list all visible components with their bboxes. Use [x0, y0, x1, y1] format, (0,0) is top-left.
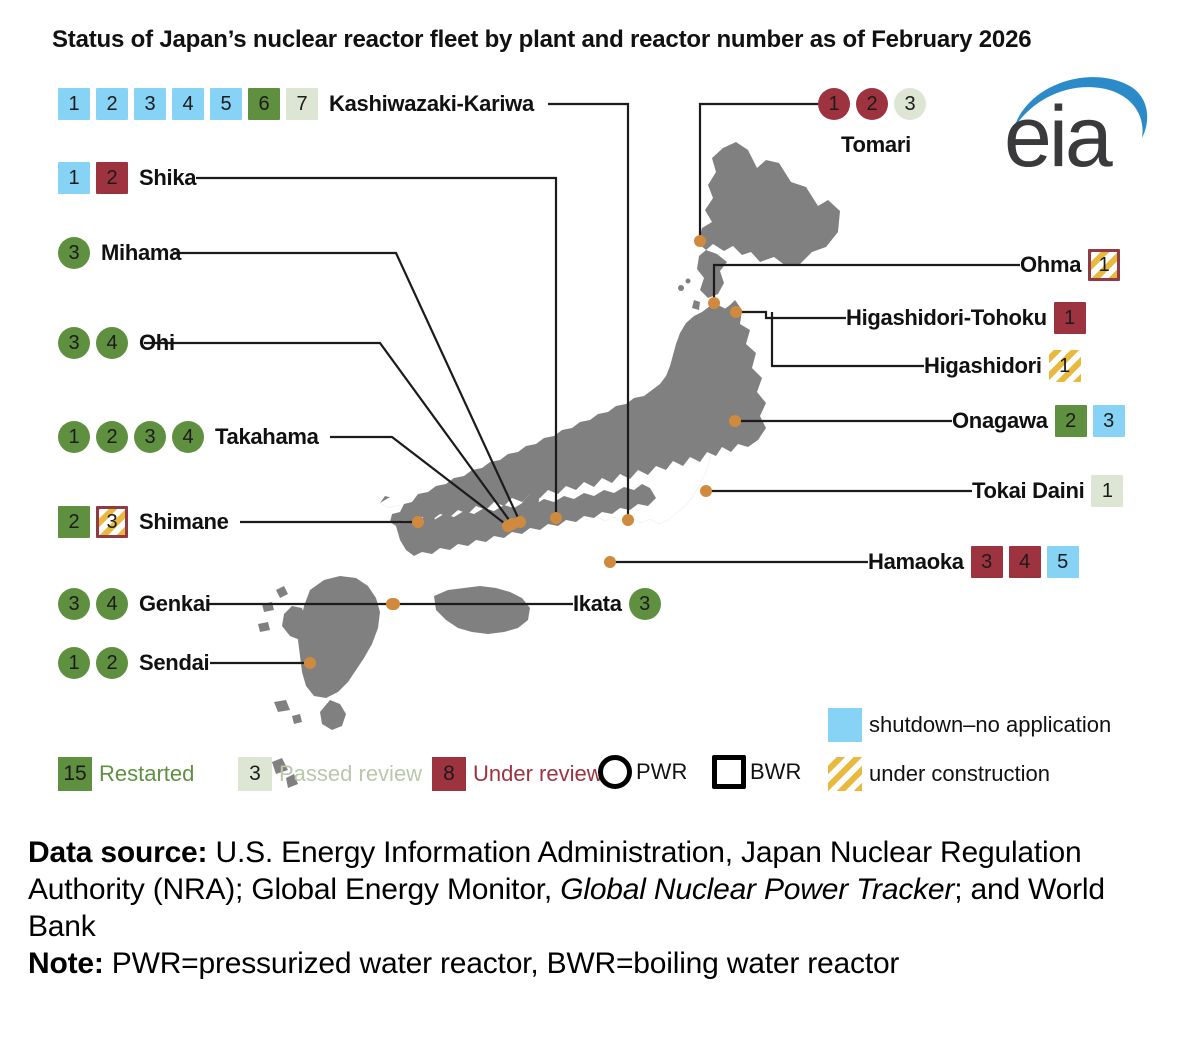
dot-takahama	[502, 520, 514, 532]
legend-label: Under review	[473, 761, 603, 787]
legend-passed-review: 3 Passed review	[238, 757, 422, 791]
reactor-marker[interactable]: 3	[1093, 405, 1125, 437]
map-landmass	[258, 142, 840, 788]
dot-shika	[550, 512, 562, 524]
plant-hamaoka[interactable]: Hamaoka 3 4 5	[868, 546, 1085, 578]
reactor-marker[interactable]: 3	[894, 88, 926, 120]
plant-label: Sendai	[139, 650, 209, 676]
legend-bwr: BWR	[712, 755, 801, 789]
note-text: PWR=pressurized water reactor, BWR=boili…	[104, 947, 900, 980]
reactor-marker[interactable]: 1	[58, 162, 90, 194]
plant-shika[interactable]: 1 2 Shika	[58, 162, 196, 194]
dot-ikata	[388, 598, 400, 610]
reactor-marker[interactable]: 3	[58, 237, 90, 269]
dot-onagawa	[729, 415, 741, 427]
reactor-marker[interactable]: 2	[96, 88, 128, 120]
plant-onagawa[interactable]: Onagawa 2 3	[952, 405, 1131, 437]
reactor-marker[interactable]: 3	[96, 506, 128, 538]
reactor-marker[interactable]: 2	[96, 647, 128, 679]
legend-label: Passed review	[279, 761, 422, 787]
reactor-marker[interactable]: 2	[96, 421, 128, 453]
reactor-marker[interactable]: 7	[286, 88, 318, 120]
leader-kashiwazaki	[548, 104, 628, 520]
dot-mihama	[514, 516, 526, 528]
reactor-marker[interactable]: 4	[96, 588, 128, 620]
reactor-marker[interactable]: 1	[58, 88, 90, 120]
leader-tomari	[700, 104, 818, 241]
dot-ohma	[708, 297, 720, 309]
reactor-marker[interactable]: 4	[96, 327, 128, 359]
dot-kashiwazaki	[622, 514, 634, 526]
reactor-marker[interactable]: 5	[210, 88, 242, 120]
legend-restarted: 15 Restarted	[58, 757, 194, 791]
plant-label: Ohma	[1020, 252, 1081, 278]
reactor-marker[interactable]: 4	[1009, 546, 1041, 578]
footer: Data source: U.S. Energy Information Adm…	[28, 834, 1178, 982]
plant-label: Onagawa	[952, 408, 1048, 434]
plant-ikata[interactable]: Ikata 3	[573, 588, 667, 620]
data-source-label: Data source:	[28, 836, 207, 869]
plant-location-dots	[304, 235, 742, 669]
plant-higashidori[interactable]: Higashidori 1	[924, 350, 1087, 382]
plant-takahama[interactable]: 1 2 3 4 Takahama	[58, 421, 319, 453]
reactor-marker[interactable]: 3	[134, 421, 166, 453]
plant-label: Tokai Daini	[972, 478, 1084, 504]
eia-logo-text: eia	[1004, 89, 1113, 176]
leader-ohma	[714, 265, 1020, 303]
legend-under-review: 8 Under review	[432, 757, 603, 791]
pwr-circle-icon	[598, 755, 632, 789]
plant-label: Mihama	[101, 240, 181, 266]
leader-takahama	[330, 437, 508, 526]
page-title: Status of Japan’s nuclear reactor fleet …	[52, 26, 1031, 54]
plant-label: Hamaoka	[868, 549, 964, 575]
under-construction-swatch-icon	[828, 757, 862, 791]
eia-logo: eia	[1002, 66, 1152, 176]
restarted-swatch-icon: 15	[58, 757, 92, 791]
infographic-root: Status of Japan’s nuclear reactor fleet …	[0, 0, 1200, 1046]
under-review-swatch-icon: 8	[432, 757, 466, 791]
reactor-marker[interactable]: 1	[1091, 475, 1123, 507]
legend: shutdown–no application 15 Restarted 3 P…	[0, 700, 1200, 810]
dot-sendai	[304, 657, 316, 669]
plant-label: Shimane	[139, 509, 229, 535]
plant-label: Higashidori-Tohoku	[846, 305, 1047, 331]
dot-shimane	[412, 516, 424, 528]
plant-tomari[interactable]: 1 2 3	[818, 88, 926, 120]
legend-label: PWR	[636, 759, 687, 785]
plant-mihama[interactable]: 3 Mihama	[58, 237, 181, 269]
bwr-square-icon	[712, 755, 746, 789]
data-source-italic: Global Nuclear Power Tracker	[560, 873, 954, 906]
reactor-marker[interactable]: 3	[58, 588, 90, 620]
reactor-marker[interactable]: 5	[1047, 546, 1079, 578]
leader-lines	[144, 104, 1020, 663]
leader-shika	[196, 178, 556, 518]
plant-sendai[interactable]: 1 2 Sendai	[58, 647, 209, 679]
reactor-marker[interactable]: 2	[58, 506, 90, 538]
legend-pwr: PWR	[598, 755, 687, 789]
reactor-marker[interactable]: 4	[172, 421, 204, 453]
plant-label-tomari: Tomari	[841, 132, 911, 158]
dot-tomari	[694, 235, 706, 247]
dot-ohi	[506, 518, 518, 530]
reactor-marker[interactable]: 3	[134, 88, 166, 120]
passed-review-swatch-icon: 3	[238, 757, 272, 791]
legend-label: shutdown–no application	[869, 712, 1111, 738]
reactor-marker[interactable]: 1	[818, 88, 850, 120]
shutdown-swatch-icon	[828, 708, 862, 742]
reactor-marker[interactable]: 1	[58, 421, 90, 453]
reactor-marker[interactable]: 6	[248, 88, 280, 120]
reactor-marker[interactable]: 1	[1054, 302, 1086, 334]
plant-label: Higashidori	[924, 353, 1042, 379]
plant-kashiwazaki-kariwa[interactable]: 1 2 3 4 5 6 7 Kashiwazaki-Kariwa	[58, 88, 534, 120]
plant-tokai-daini[interactable]: Tokai Daini 1	[972, 475, 1129, 507]
plant-label: Takahama	[215, 424, 319, 450]
reactor-marker[interactable]: 1	[1049, 350, 1081, 382]
plant-label: Ohi	[139, 330, 175, 356]
dot-hamaoka	[604, 556, 616, 568]
reactor-marker[interactable]: 3	[629, 588, 661, 620]
reactor-marker[interactable]: 2	[856, 88, 888, 120]
legend-label: under construction	[869, 761, 1050, 787]
reactor-marker[interactable]: 1	[1088, 249, 1120, 281]
plant-label: Ikata	[573, 591, 622, 617]
plant-higashidori-tohoku[interactable]: Higashidori-Tohoku 1	[846, 302, 1092, 334]
leader-mihama	[173, 253, 520, 522]
legend-under-construction: under construction	[828, 757, 1050, 791]
plant-label: Shika	[139, 165, 196, 191]
plant-shimane[interactable]: 2 3 Shimane	[58, 506, 229, 538]
plant-label: Genkai	[139, 591, 211, 617]
reactor-marker[interactable]: 3	[58, 327, 90, 359]
reactor-marker[interactable]: 4	[172, 88, 204, 120]
plant-ohi[interactable]: 3 4 Ohi	[58, 327, 175, 359]
reactor-marker[interactable]: 1	[58, 647, 90, 679]
dot-higashidori	[730, 306, 742, 318]
legend-shutdown: shutdown–no application	[828, 708, 1111, 742]
legend-label: Restarted	[99, 761, 194, 787]
plant-ohma[interactable]: Ohma 1	[1020, 249, 1126, 281]
legend-label: BWR	[750, 759, 801, 785]
reactor-marker[interactable]: 2	[96, 162, 128, 194]
leader-higashidori-tohoku	[736, 312, 846, 318]
plant-genkai[interactable]: 3 4 Genkai	[58, 588, 211, 620]
note-label: Note:	[28, 947, 104, 980]
dot-tokai-daini	[700, 485, 712, 497]
reactor-marker[interactable]: 3	[971, 546, 1003, 578]
dot-genkai	[386, 598, 398, 610]
reactor-marker[interactable]: 2	[1055, 405, 1087, 437]
plant-label: Kashiwazaki-Kariwa	[329, 91, 534, 117]
